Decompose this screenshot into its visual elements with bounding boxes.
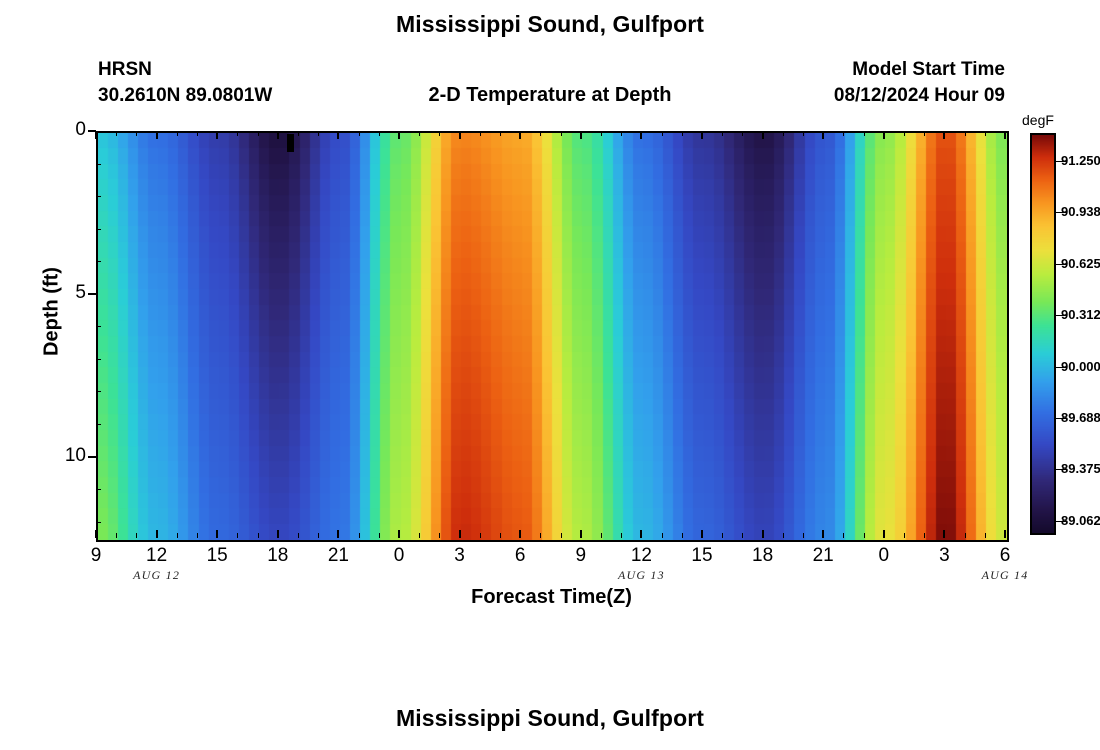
x-axis-tick (943, 530, 945, 538)
y-axis-minor-tick (96, 229, 101, 230)
x-axis-tick (943, 131, 945, 139)
date-label: AUG 12 (112, 568, 202, 583)
x-axis-minor-tick (197, 533, 198, 538)
bottom-title: Mississippi Sound, Gulfport (0, 705, 1100, 732)
x-axis-minor-tick (864, 131, 865, 136)
y-axis-minor-tick (96, 261, 101, 262)
colorbar-tick-label: 90.312 (1061, 307, 1100, 322)
x-axis-tick (398, 530, 400, 538)
x-axis-label: 18 (743, 545, 783, 567)
x-axis-tick (762, 131, 764, 139)
x-axis-minor-tick (480, 131, 481, 136)
x-axis-tick (277, 131, 279, 139)
x-axis-tick (640, 131, 642, 139)
x-axis-minor-tick (803, 131, 804, 136)
x-axis-minor-tick (379, 533, 380, 538)
x-axis-label: 0 (379, 545, 419, 567)
x-axis-label: 3 (924, 545, 964, 567)
x-axis-minor-tick (621, 533, 622, 538)
x-axis-minor-tick (540, 533, 541, 538)
heatmap-canvas (98, 133, 1007, 540)
heatmap-plot-area (96, 131, 1009, 542)
colorbar-canvas (1032, 135, 1054, 533)
observation-marker (287, 134, 294, 152)
date-label: AUG 14 (960, 568, 1050, 583)
x-axis-tick (701, 530, 703, 538)
x-axis-label: 21 (803, 545, 843, 567)
x-axis-tick (95, 530, 97, 538)
colorbar (1030, 133, 1056, 535)
x-axis-tick (216, 530, 218, 538)
x-axis-minor-tick (480, 533, 481, 538)
y-axis-minor-tick (96, 326, 101, 327)
x-axis-minor-tick (258, 533, 259, 538)
station-id: HRSN (98, 57, 272, 83)
model-start-value: 08/12/2024 Hour 09 (834, 83, 1005, 109)
colorbar-tick-label: 89.688 (1061, 410, 1100, 425)
x-axis-minor-tick (197, 131, 198, 136)
y-axis-minor-tick (96, 359, 101, 360)
x-axis-minor-tick (864, 533, 865, 538)
x-axis-minor-tick (136, 533, 137, 538)
x-axis-tick (701, 131, 703, 139)
x-axis-minor-tick (116, 533, 117, 538)
colorbar-tick-label: 90.625 (1061, 256, 1100, 271)
x-axis-tick (1004, 530, 1006, 538)
x-axis-minor-tick (803, 533, 804, 538)
x-axis-minor-tick (258, 131, 259, 136)
x-axis-minor-tick (965, 533, 966, 538)
x-axis-tick (762, 530, 764, 538)
x-axis-minor-tick (621, 131, 622, 136)
x-axis-minor-tick (904, 533, 905, 538)
x-axis-label: 0 (864, 545, 904, 567)
x-axis-label: 6 (985, 545, 1025, 567)
x-axis-label: 21 (318, 545, 358, 567)
x-axis-minor-tick (540, 131, 541, 136)
x-axis-minor-tick (924, 533, 925, 538)
x-axis-minor-tick (722, 533, 723, 538)
x-axis-minor-tick (298, 131, 299, 136)
x-axis-minor-tick (318, 131, 319, 136)
x-axis-minor-tick (783, 131, 784, 136)
x-axis-minor-tick (662, 131, 663, 136)
x-axis-tick (216, 131, 218, 139)
x-axis-tick (398, 131, 400, 139)
x-axis-label: 15 (197, 545, 237, 567)
x-axis-minor-tick (662, 533, 663, 538)
x-axis-label: 3 (440, 545, 480, 567)
x-axis-minor-tick (237, 533, 238, 538)
x-axis-minor-tick (116, 131, 117, 136)
x-axis-tick (822, 131, 824, 139)
y-axis-tick (88, 130, 96, 132)
colorbar-tick-label: 89.375 (1061, 461, 1100, 476)
colorbar-units-label: degF (1022, 112, 1054, 128)
x-axis-minor-tick (843, 533, 844, 538)
x-axis-tick (156, 530, 158, 538)
x-axis-minor-tick (682, 131, 683, 136)
model-start-time: Model Start Time 08/12/2024 Hour 09 (834, 57, 1005, 109)
x-axis-label: 18 (258, 545, 298, 567)
y-axis-minor-tick (96, 196, 101, 197)
x-axis-minor-tick (985, 533, 986, 538)
x-axis-minor-tick (379, 131, 380, 136)
x-axis-minor-tick (561, 533, 562, 538)
x-axis-tick (822, 530, 824, 538)
x-axis-tick (459, 131, 461, 139)
y-axis-minor-tick (96, 489, 101, 490)
colorbar-tick-label: 91.250 (1061, 153, 1100, 168)
x-axis-minor-tick (904, 131, 905, 136)
x-axis-tick (640, 530, 642, 538)
x-axis-tick (580, 530, 582, 538)
x-axis-minor-tick (601, 131, 602, 136)
x-axis-label: 12 (621, 545, 661, 567)
x-axis-minor-tick (298, 533, 299, 538)
x-axis-minor-tick (924, 131, 925, 136)
x-axis-tick (519, 530, 521, 538)
y-axis-label: 0 (36, 119, 86, 141)
x-axis-label: 9 (76, 545, 116, 567)
x-axis-minor-tick (601, 533, 602, 538)
x-axis-tick (337, 131, 339, 139)
model-start-label: Model Start Time (834, 57, 1005, 83)
x-axis-tick (277, 530, 279, 538)
x-axis-minor-tick (500, 131, 501, 136)
x-axis-label: 6 (500, 545, 540, 567)
x-axis-tick (95, 131, 97, 139)
x-axis-tick (580, 131, 582, 139)
x-axis-minor-tick (419, 131, 420, 136)
x-axis-minor-tick (742, 533, 743, 538)
x-axis-minor-tick (722, 131, 723, 136)
y-axis-minor-tick (96, 164, 101, 165)
x-axis-label: 15 (682, 545, 722, 567)
y-axis-tick (88, 456, 96, 458)
x-axis-minor-tick (359, 533, 360, 538)
x-axis-tick (1004, 131, 1006, 139)
y-axis-minor-tick (96, 391, 101, 392)
x-axis-minor-tick (783, 533, 784, 538)
x-axis-minor-tick (682, 533, 683, 538)
x-axis-minor-tick (439, 131, 440, 136)
x-axis-minor-tick (419, 533, 420, 538)
x-axis-minor-tick (742, 131, 743, 136)
x-axis-tick (156, 131, 158, 139)
x-axis-tick (459, 530, 461, 538)
y-axis-label: 10 (36, 445, 86, 467)
x-axis-minor-tick (237, 131, 238, 136)
colorbar-tick-label: 90.938 (1061, 204, 1100, 219)
x-axis-minor-tick (318, 533, 319, 538)
x-axis-minor-tick (985, 131, 986, 136)
x-axis-label: 9 (561, 545, 601, 567)
date-label: AUG 13 (596, 568, 686, 583)
x-axis-tick (337, 530, 339, 538)
y-axis-title: Depth (ft) (41, 242, 64, 382)
x-axis-title: Forecast Time(Z) (96, 586, 1007, 609)
x-axis-label: 12 (137, 545, 177, 567)
y-axis-minor-tick (96, 424, 101, 425)
y-axis-minor-tick (96, 522, 101, 523)
x-axis-minor-tick (965, 131, 966, 136)
x-axis-minor-tick (136, 131, 137, 136)
x-axis-tick (883, 131, 885, 139)
page-title: Mississippi Sound, Gulfport (0, 11, 1100, 38)
x-axis-tick (519, 131, 521, 139)
colorbar-tick-label: 89.062 (1061, 513, 1100, 528)
x-axis-minor-tick (359, 131, 360, 136)
x-axis-minor-tick (561, 131, 562, 136)
x-axis-minor-tick (500, 533, 501, 538)
x-axis-minor-tick (439, 533, 440, 538)
x-axis-tick (883, 530, 885, 538)
x-axis-minor-tick (177, 131, 178, 136)
y-axis-tick (88, 293, 96, 295)
colorbar-tick-label: 90.000 (1061, 359, 1100, 374)
x-axis-minor-tick (177, 533, 178, 538)
x-axis-minor-tick (843, 131, 844, 136)
